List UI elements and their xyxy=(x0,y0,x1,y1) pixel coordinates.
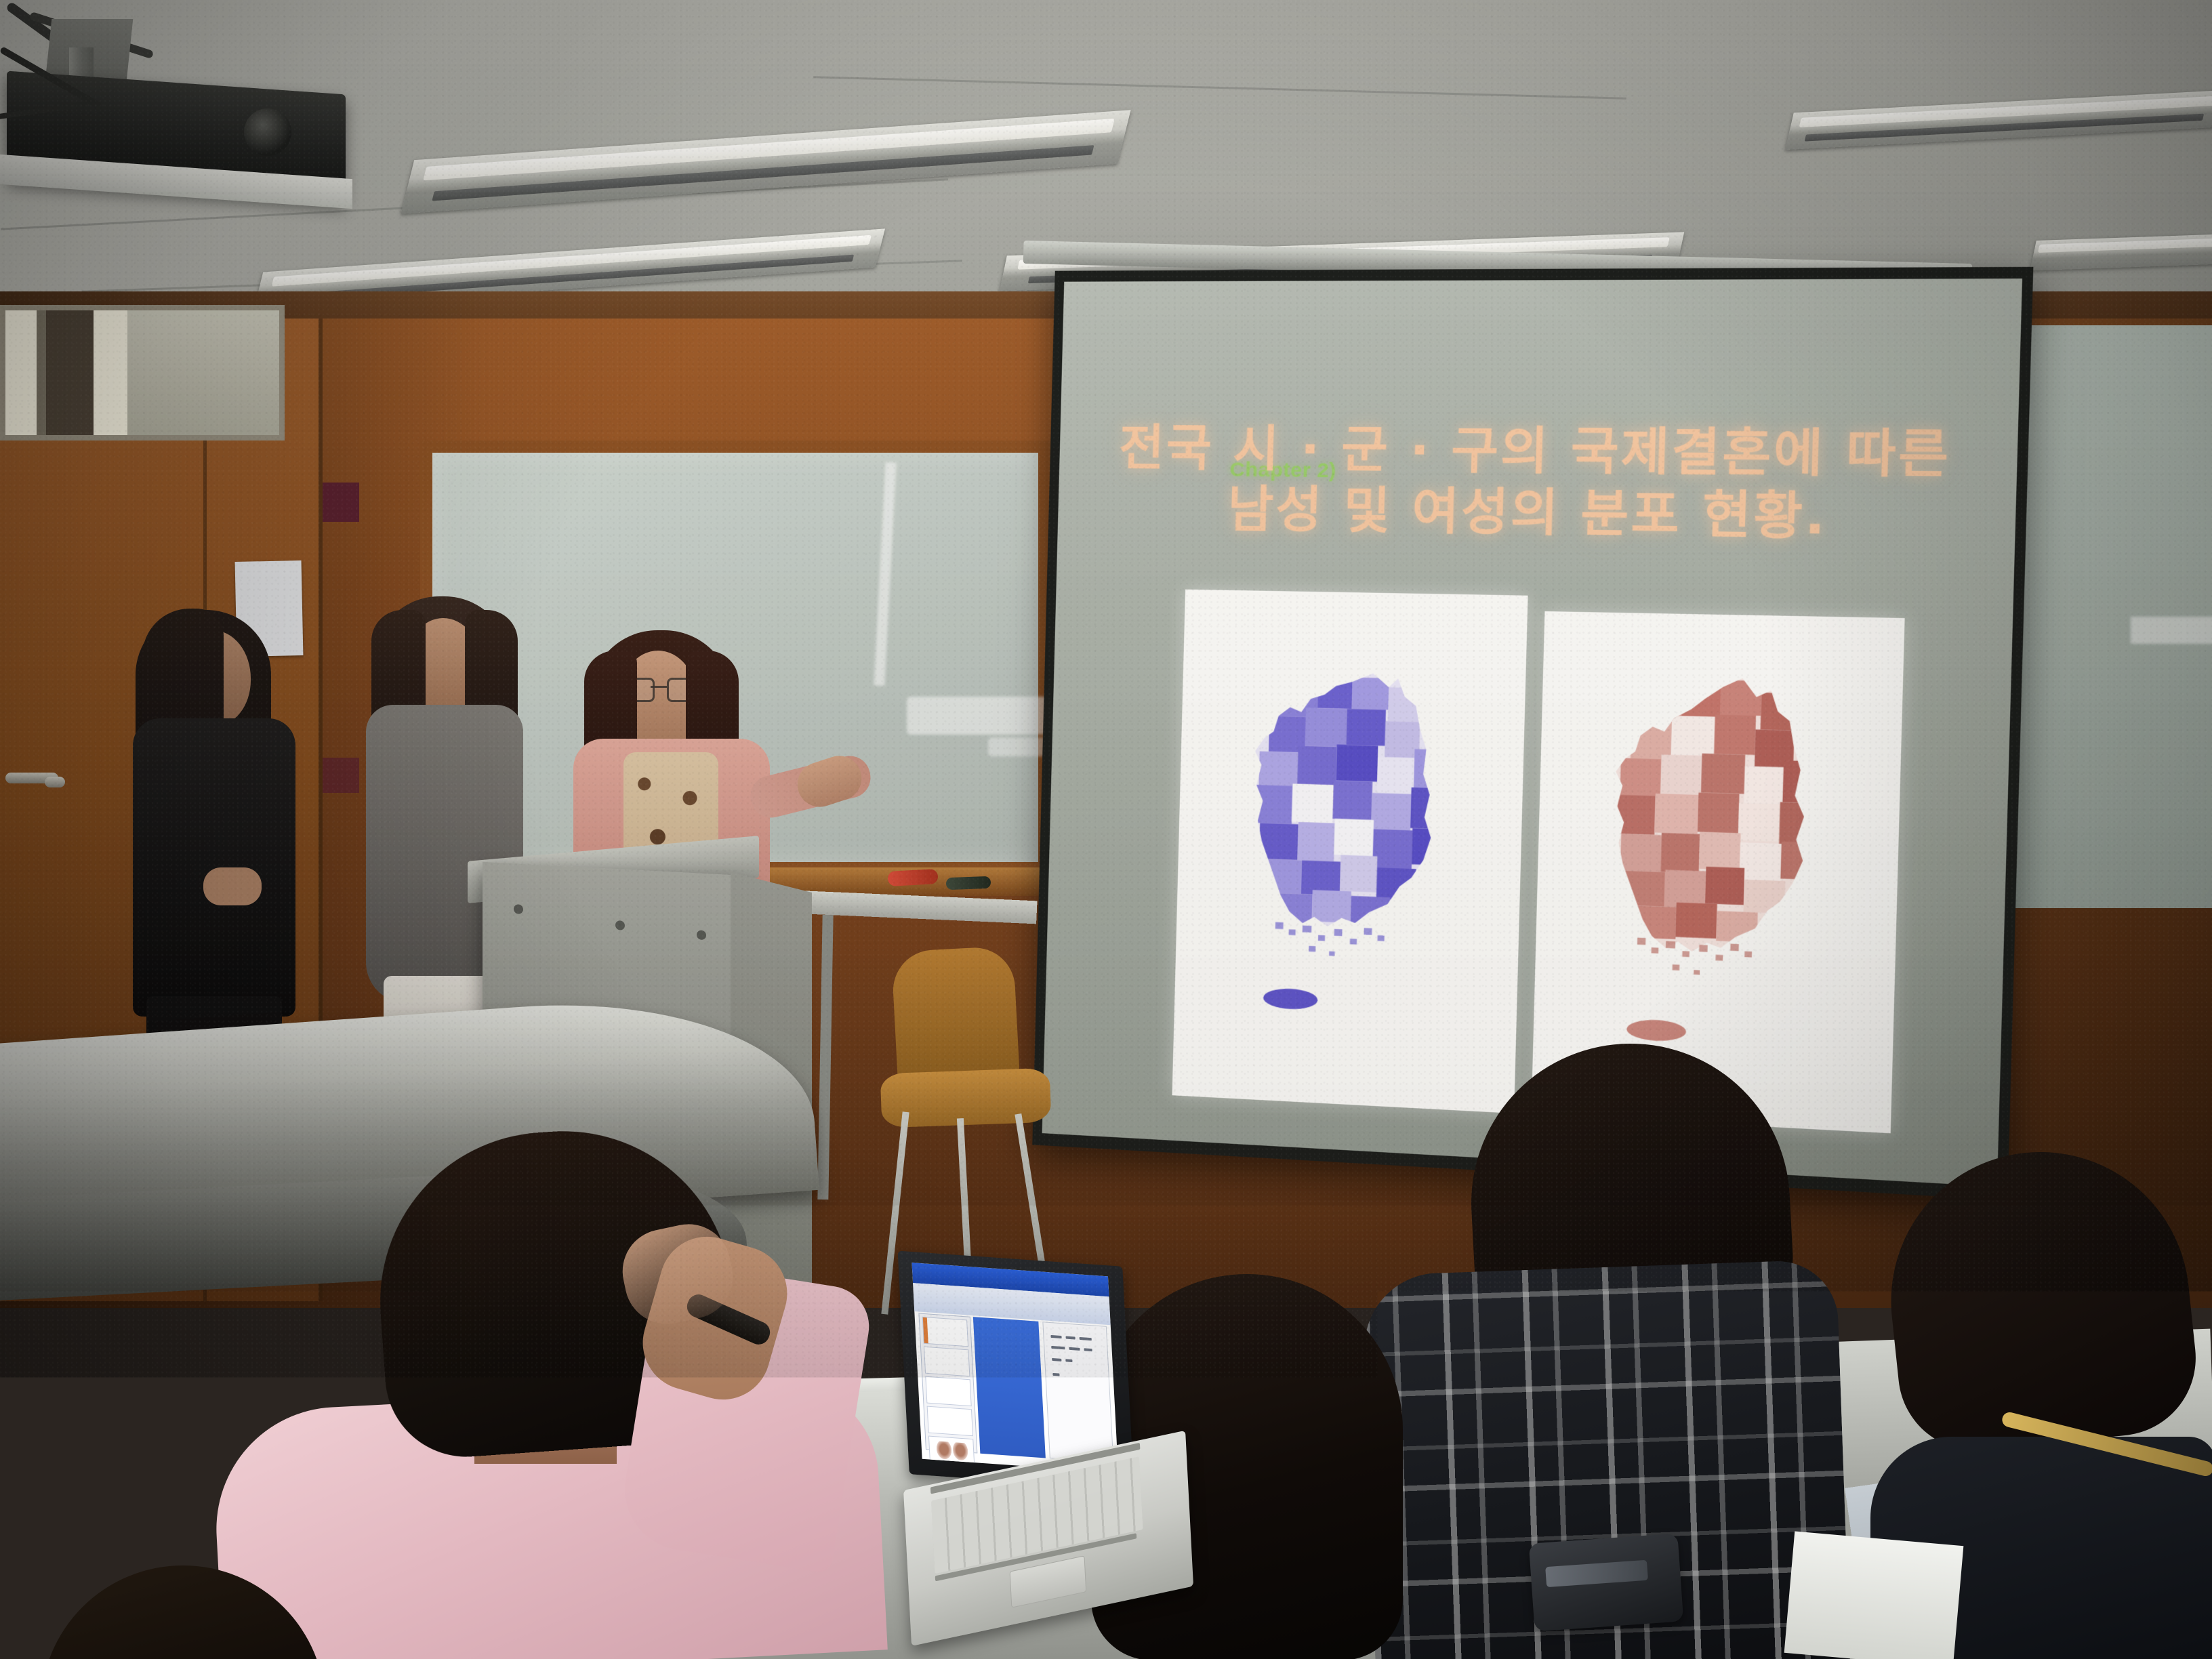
slide-thumbnail[interactable] xyxy=(924,1347,970,1377)
slide-title-line-2: 남성 및 여성의 분포 현황. xyxy=(1057,477,2016,550)
presenter-torso-black-shirt xyxy=(133,718,295,1017)
notes-document-pane[interactable] xyxy=(1042,1322,1113,1462)
doc-text-line xyxy=(1069,1347,1080,1351)
glass-reflection xyxy=(2131,617,2212,644)
thumbnail-accent-bar xyxy=(923,1317,928,1343)
screen-surface: Chapter 2) 전국 시 · 군 · 구의 국제결혼에 따른 남성 및 여… xyxy=(1042,279,2022,1187)
map-card-male xyxy=(1172,590,1528,1113)
slide-maps-row xyxy=(1172,590,1906,1134)
doc-text-line xyxy=(1065,1336,1075,1340)
projector-lens-icon xyxy=(244,108,291,156)
laptop-screen[interactable] xyxy=(912,1263,1119,1473)
door-transom-window xyxy=(0,305,285,441)
slide-thumbnail[interactable] xyxy=(922,1317,968,1347)
slide-title: 전국 시 · 군 · 구의 국제결혼에 따른 남성 및 여성의 분포 현황. xyxy=(1057,417,2018,550)
doc-text-line xyxy=(1052,1358,1061,1361)
window-pane xyxy=(5,310,37,435)
lectern-screw xyxy=(514,904,523,914)
male-distribution-map xyxy=(1172,590,1528,1113)
glasses-bridge xyxy=(651,686,667,688)
doc-text-line xyxy=(1052,1373,1059,1376)
door-handle[interactable] xyxy=(45,777,65,787)
jeju-island-marker xyxy=(1263,987,1318,1010)
fluorescent-tube xyxy=(2038,238,2212,253)
slide-thumbnail[interactable] xyxy=(925,1376,971,1407)
doc-text-line xyxy=(1084,1348,1092,1351)
window-pane-dark xyxy=(46,310,94,435)
handheld-device[interactable] xyxy=(1529,1533,1684,1631)
slide-canvas[interactable] xyxy=(973,1317,1046,1458)
whiteboard-marker-red[interactable] xyxy=(887,869,938,886)
lectern-screw xyxy=(615,920,625,930)
window-mullion xyxy=(37,310,46,435)
slide-title-line-1: 전국 시 · 군 · 구의 국제결혼에 따른 xyxy=(1059,417,2018,487)
female-choropleth-cells xyxy=(1603,671,1822,966)
whiteboard-marker-dark[interactable] xyxy=(946,876,991,890)
glass-reflection xyxy=(988,737,1049,756)
doc-text-line xyxy=(1051,1346,1065,1349)
glass-reflection xyxy=(907,697,1049,735)
slide-thumbnail[interactable] xyxy=(927,1406,973,1437)
device-label-strip xyxy=(1545,1560,1648,1587)
wooden-chair-back[interactable] xyxy=(891,945,1020,1087)
thumbnail-map-icon xyxy=(936,1441,951,1460)
doc-text-line xyxy=(1080,1337,1092,1340)
classroom-photo-scene: Chapter 2) 전국 시 · 군 · 구의 국제결혼에 따른 남성 및 여… xyxy=(0,0,2212,1659)
southern-islands xyxy=(1275,922,1385,958)
projector-assembly xyxy=(7,7,386,210)
desk-paper xyxy=(1784,1531,1964,1659)
male-choropleth-cells xyxy=(1244,666,1445,943)
glass-reflection xyxy=(874,462,896,686)
slide-thumbnail-panel[interactable] xyxy=(918,1313,977,1453)
presentation-laptop[interactable] xyxy=(892,1250,1196,1643)
window-pane xyxy=(94,310,127,435)
thumbnail-map-icon xyxy=(952,1442,968,1461)
presenter-hands xyxy=(203,867,262,905)
doc-text-line xyxy=(1050,1335,1061,1338)
projection-screen[interactable]: Chapter 2) 전국 시 · 군 · 구의 국제결혼에 따른 남성 및 여… xyxy=(1032,267,2033,1200)
jeju-island-marker xyxy=(1626,1019,1687,1042)
doc-text-line xyxy=(1065,1359,1072,1362)
lectern-screw xyxy=(697,930,706,940)
